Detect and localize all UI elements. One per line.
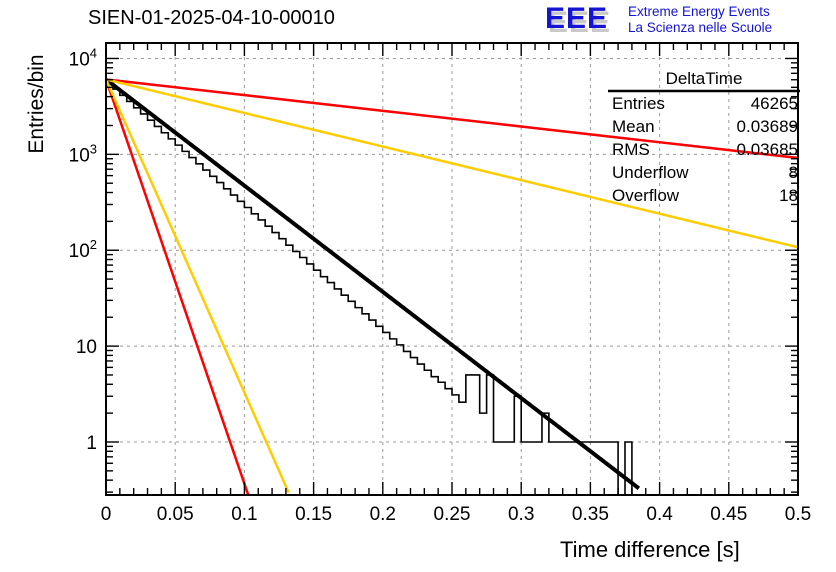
stats-row-label: Mean xyxy=(612,117,655,136)
x-tick-label: 0.25 xyxy=(434,504,471,525)
stats-row-label: Entries xyxy=(612,94,665,113)
y-tick-label: 1 xyxy=(86,433,97,454)
stats-row-label: Overflow xyxy=(612,186,680,205)
y-tick-label: 10 xyxy=(76,337,97,358)
gridlines xyxy=(106,43,798,495)
stats-row-label: RMS xyxy=(612,140,650,159)
x-tick-label: 0.35 xyxy=(572,504,609,525)
stats-row-value: 0.03689 xyxy=(737,117,798,136)
x-tick-label: 0.5 xyxy=(785,504,811,525)
x-tick-label: 0.45 xyxy=(710,504,747,525)
stats-row-value: 8 xyxy=(789,163,798,182)
stats-row-value: 18 xyxy=(779,186,798,205)
x-tick-label: 0.05 xyxy=(157,504,194,525)
x-tick-label: 0.15 xyxy=(295,504,332,525)
plot-canvas: SIEN-01-2025-04-10-00010 EEE Extreme Ene… xyxy=(0,0,836,572)
stats-box: DeltaTimeEntries46265Mean0.03689RMS0.036… xyxy=(608,69,800,205)
x-tick-label: 0.3 xyxy=(508,504,534,525)
stats-row-value: 46265 xyxy=(751,94,798,113)
x-tick-label: 0.1 xyxy=(231,504,257,525)
y-tick-label: 102 xyxy=(69,237,97,262)
y-tick-label: 103 xyxy=(69,141,97,166)
stats-row-label: Underflow xyxy=(612,163,689,182)
x-tick-label: 0.4 xyxy=(646,504,673,525)
y-tick-label: 104 xyxy=(69,45,97,70)
stats-title: DeltaTime xyxy=(666,69,743,88)
chart-svg: 00.050.10.150.20.250.30.350.40.450.51101… xyxy=(0,0,836,572)
stats-row-value: 0.03685 xyxy=(737,140,798,159)
x-tick-label: 0.2 xyxy=(370,504,396,525)
x-tick-label: 0 xyxy=(101,504,112,525)
